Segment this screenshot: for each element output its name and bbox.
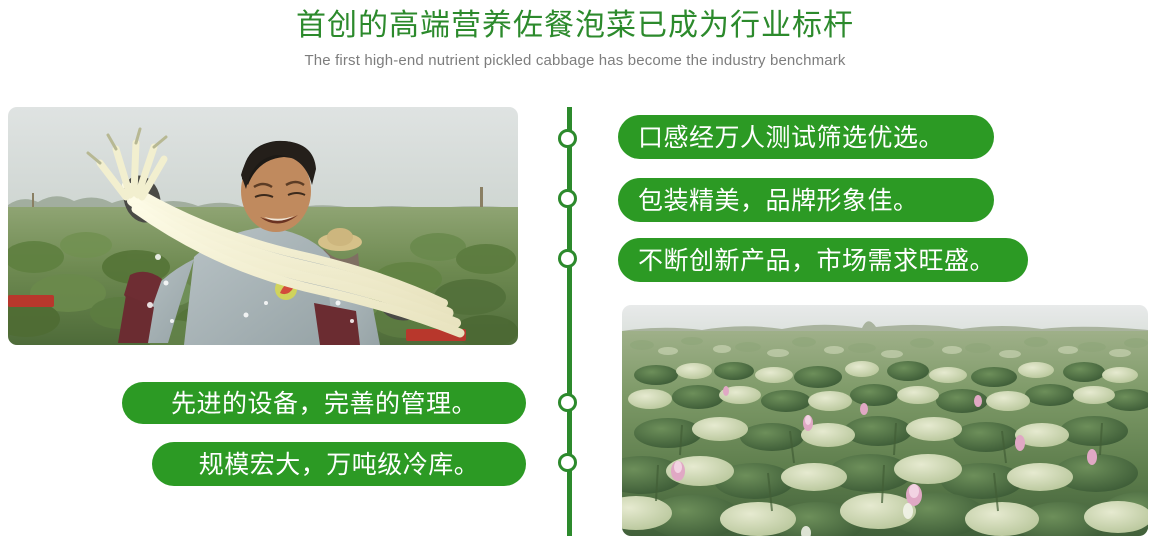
timeline-dot-1 — [558, 129, 577, 148]
timeline-dot-2 — [558, 189, 577, 208]
promotional-banner: 首创的高端营养佐餐泡菜已成为行业标杆 The first high-end nu… — [0, 0, 1150, 536]
photo-lotus-field — [622, 305, 1148, 536]
feature-pill-scale-coldstorage[interactable]: 规模宏大，万吨级冷库。 — [152, 442, 526, 486]
timeline-dot-5 — [558, 453, 577, 472]
timeline-dot-3 — [558, 249, 577, 268]
feature-pill-taste-tested[interactable]: 口感经万人测试筛选优选。 — [618, 115, 994, 159]
vertical-timeline — [552, 107, 588, 536]
feature-pill-innovation-demand[interactable]: 不断创新产品，市场需求旺盛。 — [618, 238, 1028, 282]
photo-lotus-field-image — [622, 305, 1148, 536]
timeline-dot-4 — [558, 393, 577, 412]
page-title-chinese: 首创的高端营养佐餐泡菜已成为行业标杆 — [0, 0, 1150, 44]
page-subtitle-english: The first high-end nutrient pickled cabb… — [0, 44, 1150, 71]
photo-lotus-harvest — [8, 107, 518, 345]
feature-pill-equipment-management[interactable]: 先进的设备，完善的管理。 — [122, 382, 526, 424]
photo-lotus-harvest-image — [8, 107, 518, 345]
page-header: 首创的高端营养佐餐泡菜已成为行业标杆 The first high-end nu… — [0, 0, 1150, 71]
feature-pill-packaging-brand[interactable]: 包装精美，品牌形象佳。 — [618, 178, 994, 222]
